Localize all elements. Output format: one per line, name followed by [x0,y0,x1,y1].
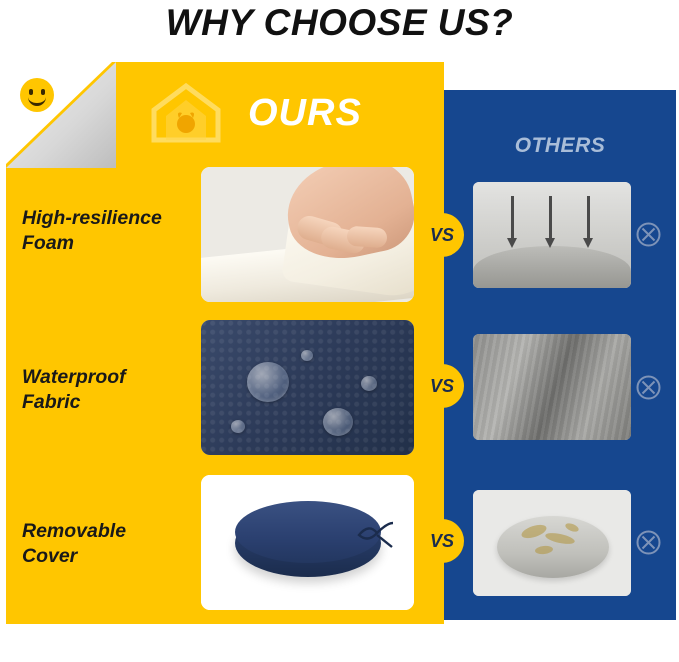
others-image-fabric [473,334,631,440]
x-circle-icon [636,375,661,400]
feature-label-cover: RemovableCover [22,519,202,569]
x-circle-icon [636,222,661,247]
vs-badge: VS [420,213,464,257]
ours-label: OURS [248,92,362,135]
ours-image-foam [201,167,414,302]
others-label: OTHERS [444,134,676,158]
ours-image-cushion [201,475,414,610]
cushion-tie [357,519,391,549]
others-image-cushion [473,490,631,596]
vs-badge: VS [420,519,464,563]
x-circle-icon [636,530,661,555]
ours-image-fabric [201,320,414,455]
feature-label-foam: High-resilienceFoam [22,206,202,256]
others-image-foam [473,182,631,288]
feature-label-fabric: WaterproofFabric [22,365,202,415]
smiley-mouth [28,94,46,106]
house-pet-icon [150,82,222,144]
page-title: WHY CHOOSE US? [0,2,679,44]
smiley-face-icon [20,78,54,112]
vs-badge: VS [420,364,464,408]
